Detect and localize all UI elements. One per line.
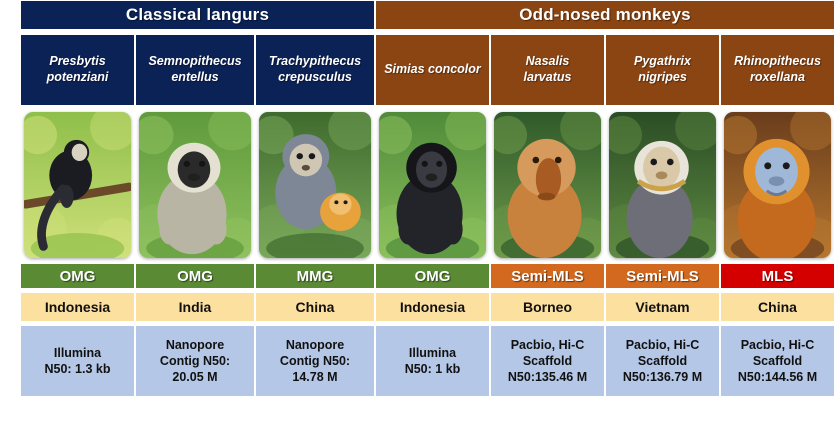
species-name-line1: Trachypithecus xyxy=(269,54,361,68)
species-name-line1: Pygathrix xyxy=(634,54,691,68)
nasalis-larvatus-photo xyxy=(494,112,601,258)
social-organization-cell: OMG xyxy=(20,263,135,289)
locality-cell: Indonesia xyxy=(375,292,490,322)
assembly-line: Illumina xyxy=(54,345,101,361)
assembly-line: Contig N50: xyxy=(280,353,350,369)
group-header-classical: Classical langurs xyxy=(20,0,375,30)
assembly-line: N50: 1.3 kb xyxy=(44,361,110,377)
locality-cell: Borneo xyxy=(490,292,605,322)
species-name-line2: nigripes xyxy=(634,70,691,86)
social-organization-cell: OMG xyxy=(135,263,255,289)
locality-cell: China xyxy=(720,292,835,322)
assembly-line: Pacbio, Hi-C xyxy=(511,337,585,353)
species-name-line1: Semnopithecus xyxy=(148,54,241,68)
locality-cell: India xyxy=(135,292,255,322)
rhinopithecus-roxellana-photo xyxy=(724,112,831,258)
species-name-line2: roxellana xyxy=(734,70,821,86)
assembly-line: Nanopore xyxy=(286,337,344,353)
species-name-line2: potenziani xyxy=(47,70,109,86)
species-photo-cell xyxy=(490,109,605,261)
species-name-cell: Trachypithecuscrepusculus xyxy=(255,34,375,106)
primate-comparison-figure: Classical langursOdd-nosed monkeys Presb… xyxy=(0,0,835,430)
assembly-statistics-cell: IlluminaN50: 1 kb xyxy=(375,325,490,397)
assembly-line: Contig N50: xyxy=(160,353,230,369)
social-organization-row: OMGOMGMMGOMGSemi-MLSSemi-MLSMLS xyxy=(20,263,815,289)
species-photo-cell xyxy=(255,109,375,261)
assembly-line: Scaffold xyxy=(753,353,802,369)
assembly-line: Pacbio, Hi-C xyxy=(741,337,815,353)
social-organization-cell: OMG xyxy=(375,263,490,289)
species-name-cell: Semnopithecusentellus xyxy=(135,34,255,106)
presbytis-potenziani-photo xyxy=(24,112,131,258)
assembly-line: N50:135.46 M xyxy=(508,369,587,385)
locality-row: IndonesiaIndiaChinaIndonesiaBorneoVietna… xyxy=(20,292,815,322)
assembly-statistics-cell: NanoporeContig N50:20.05 M xyxy=(135,325,255,397)
group-header-row: Classical langursOdd-nosed monkeys xyxy=(20,0,815,30)
assembly-line: N50:144.56 M xyxy=(738,369,817,385)
assembly-statistics-cell: Pacbio, Hi-CScaffoldN50:136.79 M xyxy=(605,325,720,397)
species-name-line1: Rhinopithecus xyxy=(734,54,821,68)
simias-concolor-photo xyxy=(379,112,486,258)
species-photo-cell xyxy=(375,109,490,261)
species-name-line2: entellus xyxy=(148,70,241,86)
pygathrix-nigripes-photo xyxy=(609,112,716,258)
assembly-statistics-cell: Pacbio, Hi-CScaffoldN50:135.46 M xyxy=(490,325,605,397)
locality-cell: Indonesia xyxy=(20,292,135,322)
species-photo-row xyxy=(20,109,815,261)
species-name-cell: Rhinopithecusroxellana xyxy=(720,34,835,106)
species-photo-cell xyxy=(720,109,835,261)
assembly-line: Scaffold xyxy=(638,353,687,369)
species-name-cell: Nasalislarvatus xyxy=(490,34,605,106)
species-name-row: PresbytispotenzianiSemnopithecusentellus… xyxy=(20,34,815,106)
species-photo-cell xyxy=(20,109,135,261)
species-name-line2: larvatus xyxy=(524,70,572,86)
group-header-oddnosed: Odd-nosed monkeys xyxy=(375,0,835,30)
species-name-line1: Simias concolor xyxy=(384,62,481,76)
assembly-statistics-cell: NanoporeContig N50:14.78 M xyxy=(255,325,375,397)
social-organization-cell: Semi-MLS xyxy=(490,263,605,289)
species-name-cell: Pygathrixnigripes xyxy=(605,34,720,106)
assembly-line: N50: 1 kb xyxy=(405,361,461,377)
locality-cell: Vietnam xyxy=(605,292,720,322)
assembly-line: Scaffold xyxy=(523,353,572,369)
species-name-line2: crepusculus xyxy=(269,70,361,86)
social-organization-cell: MLS xyxy=(720,263,835,289)
assembly-line: 14.78 M xyxy=(292,369,337,385)
assembly-statistics-cell: IlluminaN50: 1.3 kb xyxy=(20,325,135,397)
assembly-statistics-cell: Pacbio, Hi-CScaffoldN50:144.56 M xyxy=(720,325,835,397)
assembly-line: Nanopore xyxy=(166,337,224,353)
semnopithecus-entellus-photo xyxy=(139,112,251,258)
species-name-line1: Presbytis xyxy=(49,54,105,68)
species-photo-cell xyxy=(605,109,720,261)
species-photo-cell xyxy=(135,109,255,261)
species-name-line1: Nasalis xyxy=(526,54,570,68)
locality-cell: China xyxy=(255,292,375,322)
assembly-line: Pacbio, Hi-C xyxy=(626,337,700,353)
assembly-statistics-row: IlluminaN50: 1.3 kbNanoporeContig N50:20… xyxy=(20,325,815,397)
species-name-cell: Presbytispotenziani xyxy=(20,34,135,106)
social-organization-cell: Semi-MLS xyxy=(605,263,720,289)
assembly-line: N50:136.79 M xyxy=(623,369,702,385)
assembly-line: Illumina xyxy=(409,345,456,361)
trachypithecus-crepusculus-photo xyxy=(259,112,371,258)
assembly-line: 20.05 M xyxy=(172,369,217,385)
social-organization-cell: MMG xyxy=(255,263,375,289)
species-name-cell: Simias concolor xyxy=(375,34,490,106)
